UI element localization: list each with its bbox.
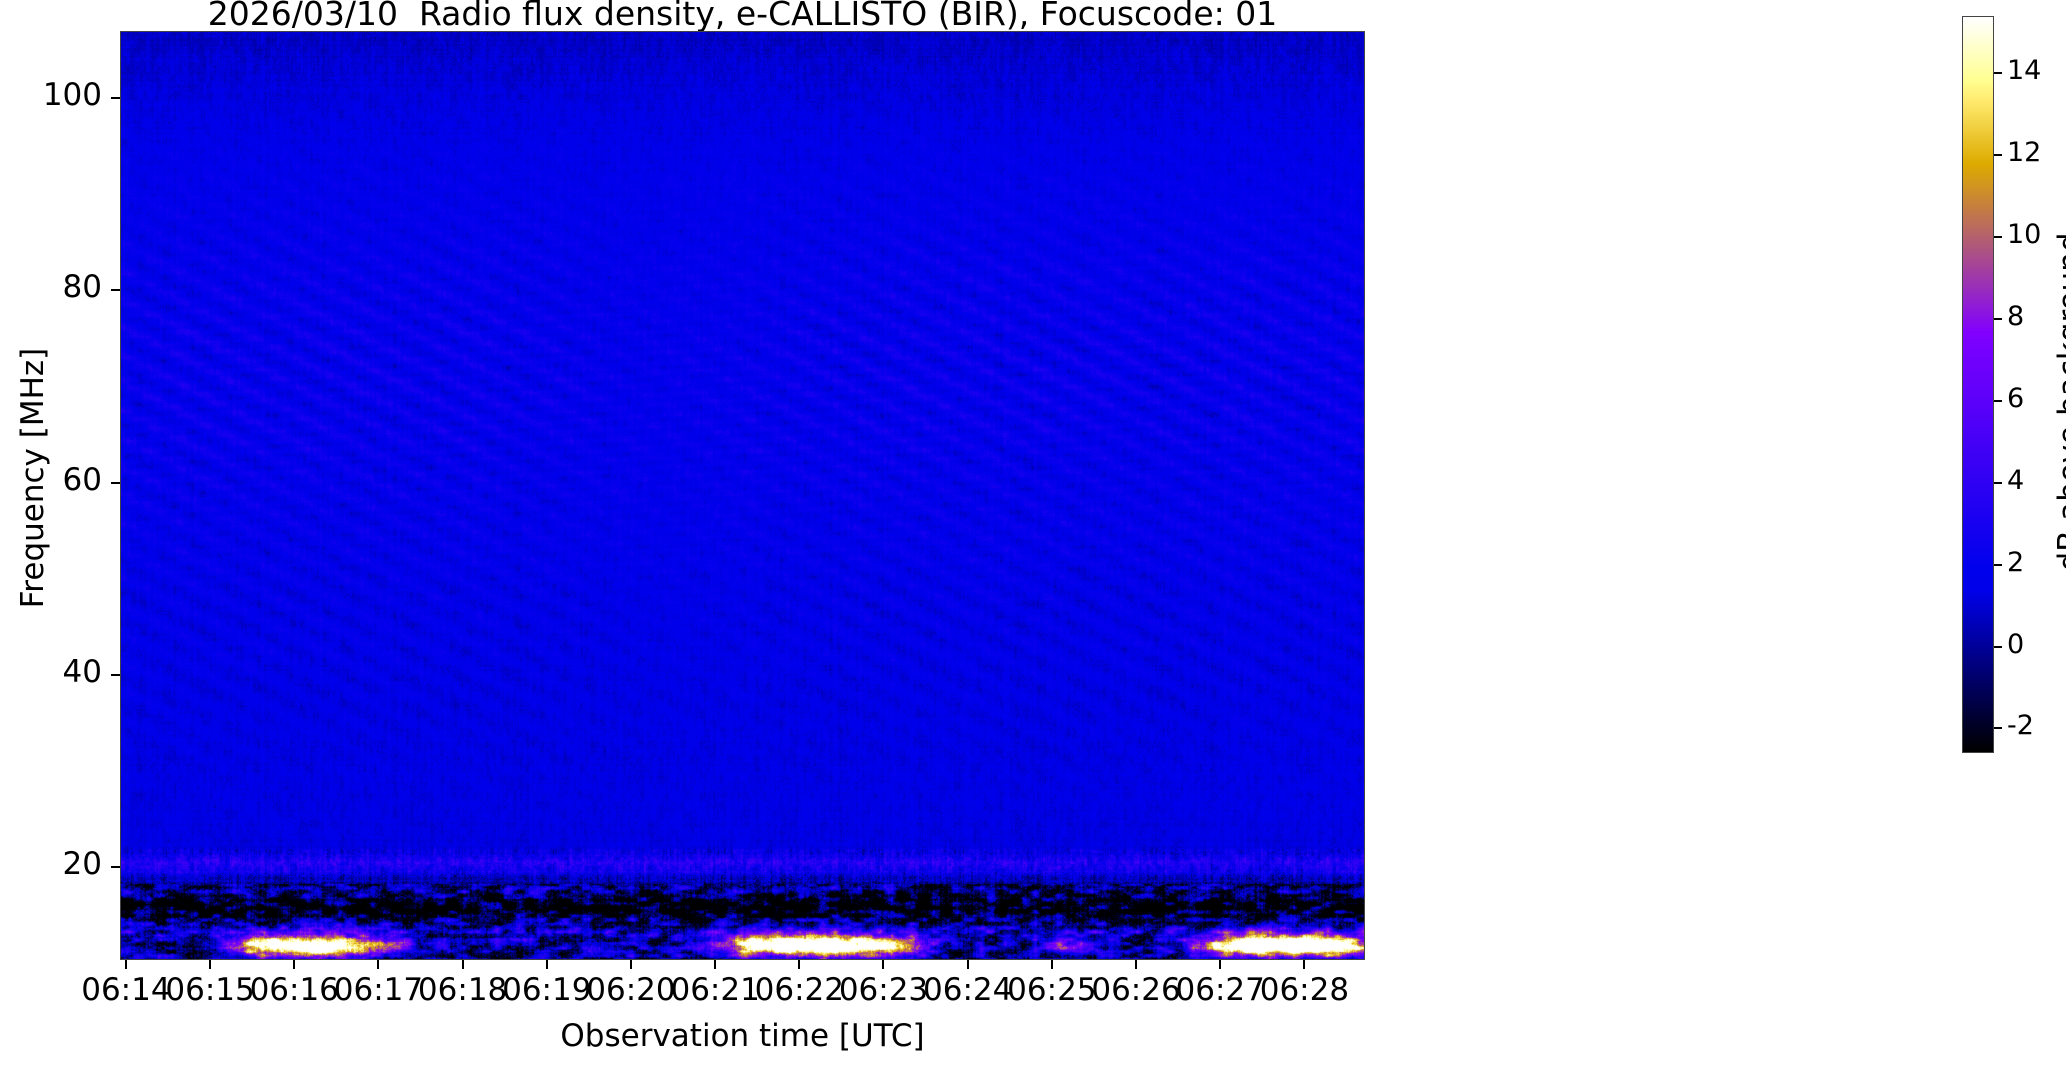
y-tick-label: 40 — [0, 654, 102, 690]
colorbar-tick-label: 14 — [2007, 55, 2041, 86]
x-tick-mark — [462, 960, 464, 969]
spectrogram-plot-area[interactable] — [120, 31, 1365, 960]
x-tick-mark — [1303, 960, 1305, 969]
colorbar-tick-label: 6 — [2007, 383, 2024, 414]
x-tick-mark — [1135, 960, 1137, 969]
spectrogram-figure: 2026/03/10 Radio flux density, e-CALLIST… — [0, 0, 2066, 1067]
x-tick-mark — [714, 960, 716, 969]
x-tick-mark — [377, 960, 379, 969]
colorbar-tick-mark — [1994, 236, 2002, 238]
y-tick-mark — [111, 674, 120, 676]
colorbar-tick-mark — [1994, 400, 2002, 402]
colorbar-tick-label: 8 — [2007, 301, 2024, 332]
colorbar-tick-label: 2 — [2007, 547, 2024, 578]
colorbar[interactable] — [1962, 16, 1994, 753]
x-tick-mark — [1219, 960, 1221, 969]
colorbar-tick-mark — [1994, 154, 2002, 156]
x-tick-mark — [546, 960, 548, 969]
y-tick-mark — [111, 866, 120, 868]
x-axis-label: Observation time [UTC] — [120, 1018, 1365, 1054]
colorbar-tick-label: 12 — [2007, 137, 2041, 168]
colorbar-tick-mark — [1994, 72, 2002, 74]
colorbar-label: dB above background — [2052, 122, 2066, 682]
colorbar-tick-label: 10 — [2007, 219, 2041, 250]
y-tick-label: 100 — [0, 77, 102, 113]
y-tick-label: 80 — [0, 269, 102, 305]
colorbar-tick-label: 4 — [2007, 465, 2024, 496]
y-tick-label: 60 — [0, 462, 102, 498]
x-tick-mark — [1051, 960, 1053, 969]
x-tick-mark — [209, 960, 211, 969]
x-tick-mark — [293, 960, 295, 969]
x-tick-mark — [882, 960, 884, 969]
colorbar-tick-mark — [1994, 727, 2002, 729]
colorbar-tick-label: -2 — [2007, 710, 2034, 741]
x-tick-mark — [798, 960, 800, 969]
y-tick-mark — [111, 482, 120, 484]
y-tick-mark — [111, 97, 120, 99]
x-tick-mark — [630, 960, 632, 969]
x-tick-mark — [967, 960, 969, 969]
page-title: 2026/03/10 Radio flux density, e-CALLIST… — [120, 0, 1365, 32]
y-tick-mark — [111, 289, 120, 291]
colorbar-tick-mark — [1994, 646, 2002, 648]
colorbar-tick-label: 0 — [2007, 629, 2024, 660]
x-tick-label: 06:28 — [1224, 972, 1384, 1008]
y-tick-label: 20 — [0, 846, 102, 882]
colorbar-gradient — [1963, 17, 1993, 752]
colorbar-tick-mark — [1994, 482, 2002, 484]
colorbar-tick-mark — [1994, 564, 2002, 566]
spectrogram-image — [121, 32, 1365, 960]
colorbar-tick-mark — [1994, 318, 2002, 320]
x-tick-mark — [125, 960, 127, 969]
